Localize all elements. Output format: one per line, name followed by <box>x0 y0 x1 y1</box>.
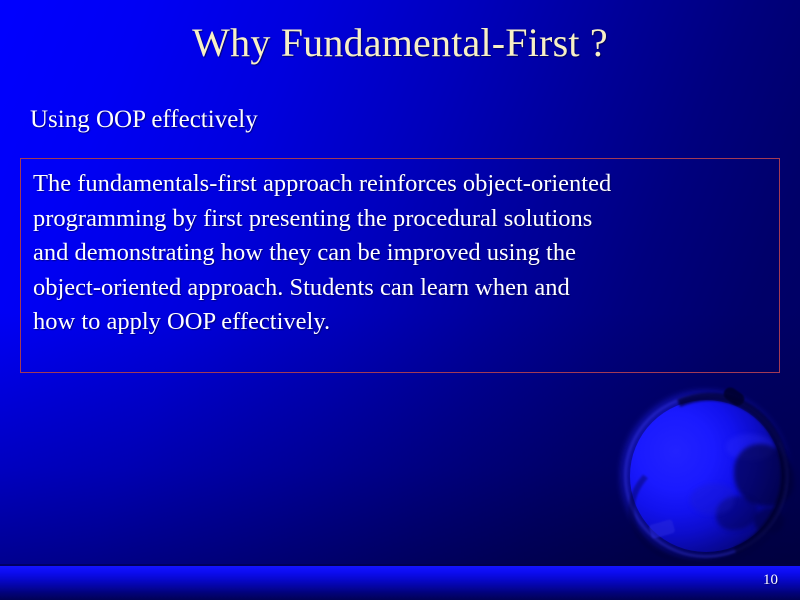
presentation-slide: Why Fundamental-First ? Using OOP effect… <box>0 0 800 600</box>
bottom-accent-band <box>0 566 800 600</box>
body-line: and demonstrating how they can be improv… <box>33 236 769 271</box>
slide-title: Why Fundamental-First ? <box>0 22 800 64</box>
globe-icon <box>602 382 800 572</box>
body-line: how to apply OOP effectively. <box>33 305 769 340</box>
slide-lead-text: Using OOP effectively <box>30 106 258 134</box>
body-text-box: The fundamentals-first approach reinforc… <box>20 158 780 373</box>
body-line: object-oriented approach. Students can l… <box>33 271 769 306</box>
body-line: The fundamentals-first approach reinforc… <box>33 167 769 202</box>
page-number: 10 <box>763 572 778 589</box>
body-line: programming by first presenting the proc… <box>33 202 769 237</box>
